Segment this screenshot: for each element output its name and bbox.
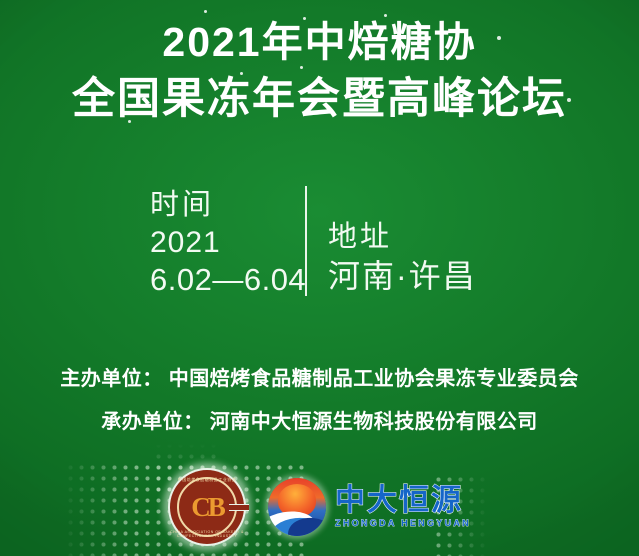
organizers-block: 主办单位：中国焙烤食品糖制品工业协会果冻专业委员会 承办单位：河南中大恒源生物科… xyxy=(0,358,639,444)
undertaker-value: 河南中大恒源生物科技股份有限公司 xyxy=(210,411,538,433)
organizer-line-undertaker: 承办单位：河南中大恒源生物科技股份有限公司 xyxy=(0,401,639,444)
event-info-row: 时间 2021 6.02—6.04 地址 河南·许昌 xyxy=(0,186,639,298)
event-poster: 2021年中焙糖协 全国果冻年会暨高峰论坛 时间 2021 6.02—6.04 … xyxy=(0,0,639,556)
host-value: 中国焙烤食品糖制品工业协会果冻专业委员会 xyxy=(169,368,579,390)
address-value: 河南·许昌 xyxy=(328,256,507,296)
zhongda-wordmark: 中大恒源 ZHONGDA HENGYUAN xyxy=(335,484,471,530)
address-label: 地址 xyxy=(328,218,507,256)
zhongda-hengyuan-logo: 中大恒源 ZHONGDA HENGYUAN xyxy=(268,478,471,536)
title-line-2: 全国果冻年会暨高峰论坛 xyxy=(0,70,639,128)
undertaker-label: 承办单位： xyxy=(101,411,204,433)
sparkle-dot xyxy=(204,10,207,13)
zhongda-emblem-icon xyxy=(268,478,326,536)
title-line-1: 2021年中焙糖协 xyxy=(0,14,639,70)
time-range: 6.02—6.04 xyxy=(150,261,305,298)
seal-monogram: CB xyxy=(191,494,223,521)
event-time-block: 时间 2021 6.02—6.04 xyxy=(132,186,305,298)
organizer-line-host: 主办单位：中国焙烤食品糖制品工业协会果冻专业委员会 xyxy=(0,358,639,401)
time-year: 2021 xyxy=(150,224,305,261)
event-address-block: 地址 河南·许昌 xyxy=(307,186,507,298)
logo-row: 中国焙烤食品糖制品工业协会 CHINA ASSOCIATION OF BAKER… xyxy=(0,464,639,550)
seal-microtext-bottom: CHINA ASSOCIATION OF BAKERY & CONFECTION… xyxy=(168,530,246,538)
poster-title: 2021年中焙糖协 全国果冻年会暨高峰论坛 xyxy=(0,14,639,128)
seal-side-bar xyxy=(229,504,249,511)
association-seal-logo: 中国焙烤食品糖制品工业协会 CHINA ASSOCIATION OF BAKER… xyxy=(168,468,246,546)
zhongda-name-en: ZHONGDA HENGYUAN xyxy=(335,517,471,530)
seal-microtext-top: 中国焙烤食品糖制品工业协会 xyxy=(168,477,246,483)
host-label: 主办单位： xyxy=(60,368,163,390)
time-label: 时间 xyxy=(150,186,305,224)
zhongda-name-cn: 中大恒源 xyxy=(335,484,463,517)
